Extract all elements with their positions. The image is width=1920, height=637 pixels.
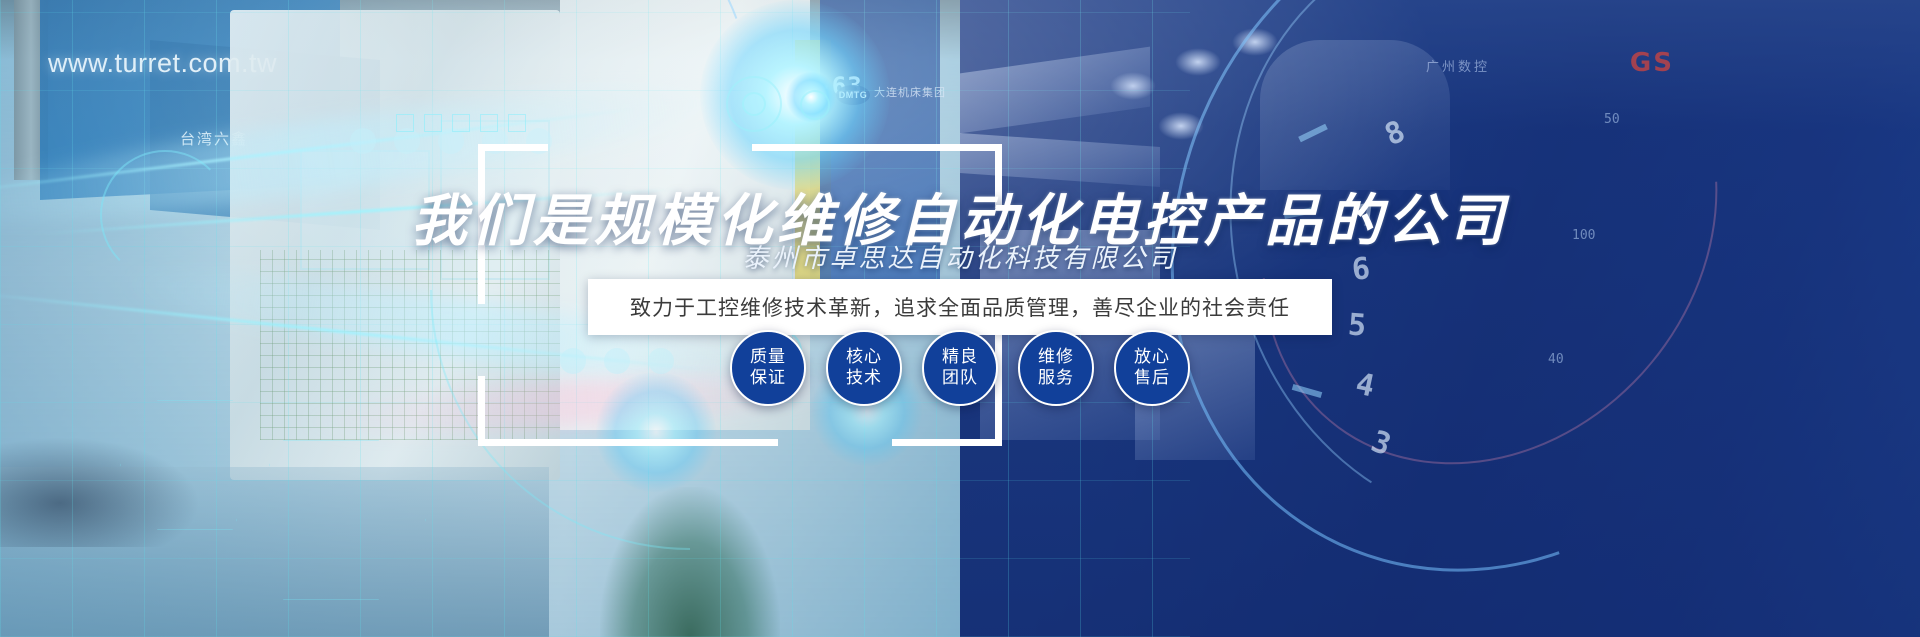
badge-skilled-team[interactable]: 精良 团队 [922,330,998,406]
badge-after-sales[interactable]: 放心 售后 [1114,330,1190,406]
badge-core-technology[interactable]: 核心 技术 [826,330,902,406]
tagline-text: 致力于工控维修技术革新，追求全面品质管理，善尽企业的社会责任 [630,297,1290,320]
badge-line-1: 核心 [846,347,882,368]
badge-quality-guarantee[interactable]: 质量 保证 [730,330,806,406]
badge-line-1: 维修 [1038,347,1074,368]
badge-line-1: 放心 [1134,347,1170,368]
badge-line-1: 精良 [942,347,978,368]
tagline-bar: 致力于工控维修技术革新，追求全面品质管理，善尽企业的社会责任 [588,279,1332,335]
feature-badges: 质量 保证 核心 技术 精良 团队 维修 服务 放心 售后 [730,330,1190,406]
badge-line-1: 质量 [750,347,786,368]
banner-content: 我们是规模化维修自动化电控产品的公司 泰州市卓思达自动化科技有限公司 致力于工控… [0,0,1920,637]
company-name: 泰州市卓思达自动化科技有限公司 [0,238,1920,275]
hero-banner: www.turret.com.tw 台湾六鑫 HDL-63 DMTG 大连机床集… [0,0,1920,637]
badge-line-2: 售后 [1134,368,1170,389]
badge-line-2: 技术 [846,368,882,389]
badge-repair-service[interactable]: 维修 服务 [1018,330,1094,406]
badge-line-2: 保证 [750,368,786,389]
badge-line-2: 服务 [1038,368,1074,389]
badge-line-2: 团队 [942,368,978,389]
